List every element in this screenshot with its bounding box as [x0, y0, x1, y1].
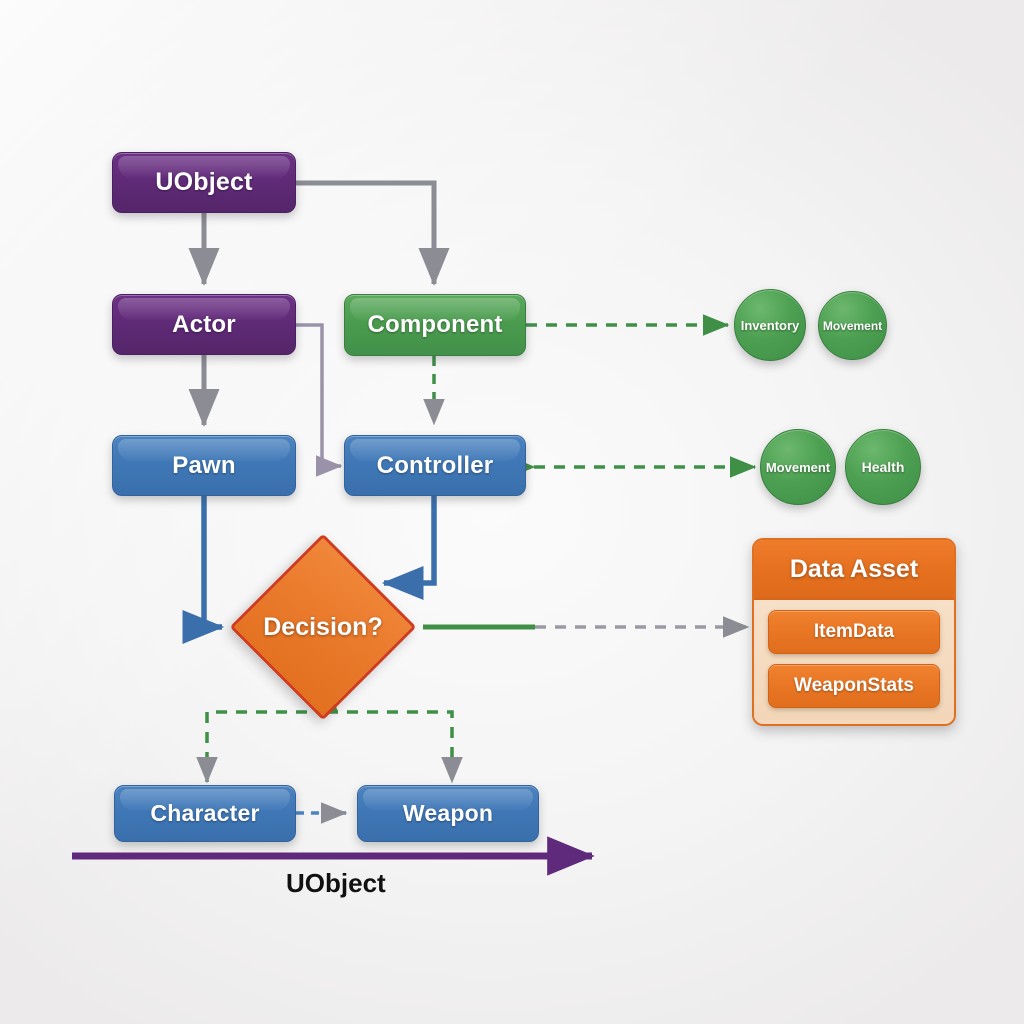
node-component[interactable]: Component — [344, 294, 526, 356]
node-actor-label: Actor — [172, 311, 236, 339]
data-asset-title: Data Asset — [754, 540, 954, 600]
node-pawn-label: Pawn — [172, 452, 235, 480]
circle-movement-1[interactable]: Movement — [818, 291, 887, 360]
edge-uobject-component — [296, 183, 434, 284]
data-asset-item-itemdata-label: ItemData — [814, 621, 894, 643]
node-actor[interactable]: Actor — [112, 294, 296, 355]
data-asset-body: ItemData WeaponStats — [754, 600, 954, 720]
node-character-label: Character — [150, 800, 259, 827]
circle-inventory[interactable]: Inventory — [734, 289, 806, 361]
data-asset-item-itemdata[interactable]: ItemData — [768, 610, 940, 654]
circle-movement-1-label: Movement — [823, 319, 882, 333]
node-controller[interactable]: Controller — [344, 435, 526, 496]
diagram-canvas: UObject Actor Component Pawn Controller … — [0, 0, 1024, 1024]
node-weapon-label: Weapon — [403, 800, 493, 827]
uobject-axis-label: UObject — [286, 868, 386, 899]
circle-movement-2[interactable]: Movement — [760, 429, 836, 505]
data-asset-item-weaponstats[interactable]: WeaponStats — [768, 664, 940, 708]
data-asset-item-weaponstats-label: WeaponStats — [794, 675, 914, 697]
circle-health[interactable]: Health — [845, 429, 921, 505]
node-component-label: Component — [367, 311, 502, 339]
node-pawn[interactable]: Pawn — [112, 435, 296, 496]
edge-decision-character — [207, 712, 327, 782]
node-uobject-label: UObject — [155, 168, 252, 197]
node-decision[interactable]: Decision? — [257, 561, 389, 693]
node-weapon[interactable]: Weapon — [357, 785, 539, 842]
node-decision-label: Decision? — [193, 561, 453, 693]
edge-decision-weapon — [327, 712, 452, 782]
circle-inventory-label: Inventory — [741, 318, 800, 333]
circle-movement-2-label: Movement — [766, 460, 830, 475]
node-controller-label: Controller — [377, 452, 494, 480]
circle-health-label: Health — [862, 459, 905, 475]
data-asset-panel[interactable]: Data Asset ItemData WeaponStats — [752, 538, 956, 726]
edge-actor-controller — [296, 325, 341, 466]
node-character[interactable]: Character — [114, 785, 296, 842]
node-uobject[interactable]: UObject — [112, 152, 296, 213]
